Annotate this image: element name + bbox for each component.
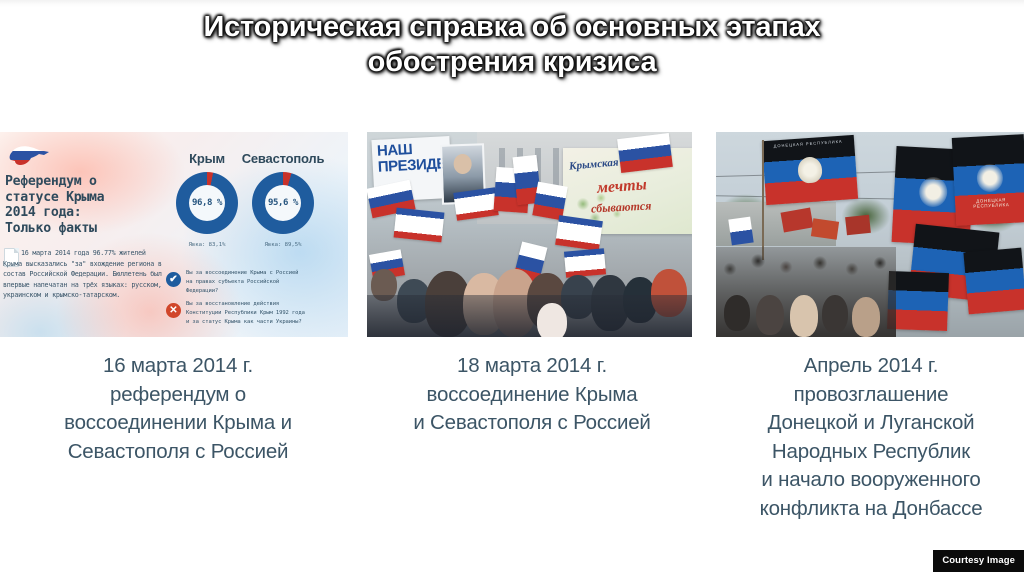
russian-flag-icon [617, 133, 673, 173]
check-icon: ✔ [166, 272, 181, 287]
donut-title-crimea: Крым [189, 151, 225, 166]
referendum-question-yes-text: Вы за воссоединение Крыма с Россией на п… [186, 269, 298, 297]
donut-value-crimea: 96,8 % [189, 185, 225, 221]
turnout-label-sevastopol: Явка: 89,5% [264, 242, 301, 248]
dpr-flag-text: ДОНЕЦКАЯ РЕСПУБЛИКА [770, 138, 846, 148]
page-title: Историческая справка об основных этапах … [0, 10, 1024, 80]
courtesy-watermark: Courtesy Image [933, 550, 1024, 572]
referendum-question-no-text: Вы за восстановление действия Конституци… [186, 300, 305, 328]
dpr-flag-icon: ДОНЕЦКАЯ РЕСПУБЛИКА [952, 134, 1024, 226]
donut-ring-crimea: 96,8 % [176, 172, 238, 234]
referendum-question-no: ✕ Вы за восстановление действия Конститу… [166, 300, 346, 328]
crimea-map-tricolor-icon [6, 143, 50, 169]
dpr-flag-icon [963, 248, 1024, 315]
banner-line-3: сбываются [591, 198, 652, 216]
donut-value-sevastopol: 95,6 % [265, 185, 301, 221]
crowd-silhouettes [367, 222, 692, 337]
crowd-photo-donbass: ДОНЕЦКАЯ РЕСПУБЛИКА ДОНЕЦКАЯ РЕСПУБЛИКА [716, 132, 1024, 337]
cross-icon: ✕ [166, 303, 181, 318]
dpr-flag-icon: ДОНЕЦКАЯ РЕСПУБЛИКА [762, 135, 858, 205]
crimean-flag-icon [453, 187, 498, 221]
top-letterbox-band [0, 0, 1024, 7]
panel-donbass-photo[interactable]: ДОНЕЦКАЯ РЕСПУБЛИКА ДОНЕЦКАЯ РЕСПУБЛИКА [716, 132, 1024, 337]
caption-panel-3: Апрель 2014 г. провозглашение Донецкой и… [700, 352, 1024, 523]
turnout-label-crimea: Явка: 83,1% [188, 242, 225, 248]
banner-line-2: мечты [596, 176, 647, 197]
panel-referendum-infographic[interactable]: Референдум о статусе Крыма 2014 года: То… [0, 132, 348, 337]
donut-title-sevastopol: Севастополь [242, 151, 325, 166]
caption-panel-1: 16 марта 2014 г. референдум о воссоедине… [0, 352, 364, 466]
donut-ring-sevastopol: 95,6 % [252, 172, 314, 234]
referendum-question-yes: ✔ Вы за воссоединение Крыма с Россией на… [166, 269, 346, 297]
crowd-photo-reunification: Крымская весна - мечты сбываются НАШ ПРЕ… [367, 132, 692, 337]
infographic-headline: Референдум о статусе Крыма 2014 года: То… [5, 174, 165, 236]
donut-chart-sevastopol: Севастополь 95,6 % Явка: 89,5% [252, 172, 314, 234]
donut-chart-crimea: Крым 96,8 % Явка: 83,1% [176, 172, 238, 234]
infographic-body-text: 16 марта 2014 года 96.77% жителей Крыма … [3, 248, 163, 301]
panel-reunification-photo[interactable]: Крымская весна - мечты сбываются НАШ ПРЕ… [367, 132, 692, 337]
crowd-silhouettes [716, 227, 896, 337]
dpr-flag-icon [887, 271, 949, 331]
dpr-flag-text: ДОНЕЦКАЯ РЕСПУБЛИКА [959, 196, 1023, 209]
caption-panel-2: 18 марта 2014 г. воссоединение Крыма и С… [358, 352, 706, 438]
